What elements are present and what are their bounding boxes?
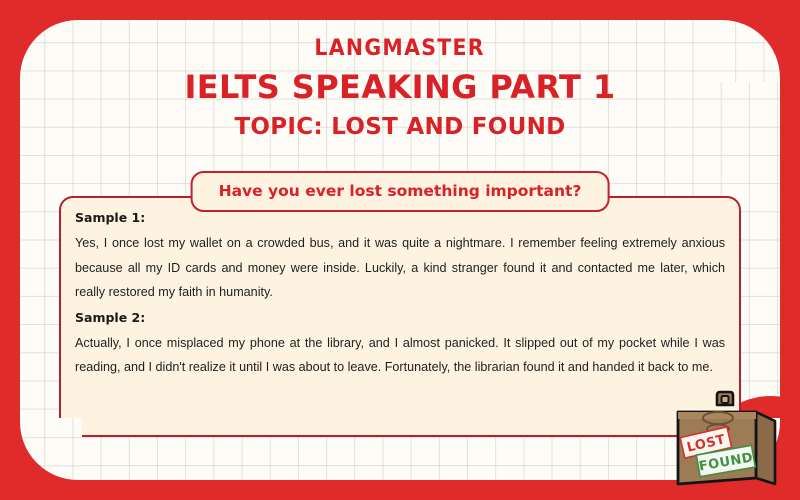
brand-logo: LANGMASTER [0, 36, 800, 61]
question-badge: Have you ever lost something important? [191, 171, 610, 212]
corner-decoration-top-right [718, 20, 780, 82]
sample-1-body: Yes, I once lost my wallet on a crowded … [73, 231, 727, 305]
suitcase-icon: LOST FOUND [668, 388, 786, 492]
brand-name: LANGMASTER [315, 36, 485, 61]
answers-card: Sample 1: Yes, I once lost my wallet on … [59, 196, 741, 437]
sample-1-label: Sample 1: [73, 210, 727, 225]
sample-2-label: Sample 2: [73, 310, 727, 325]
page-title: IELTS SPEAKING PART 1 [0, 68, 800, 106]
page-subtitle-topic: TOPIC: LOST AND FOUND [0, 114, 800, 140]
slide-canvas: LANGMASTER IELTS SPEAKING PART 1 TOPIC: … [0, 0, 800, 500]
corner-decoration-top-left [20, 20, 82, 82]
corner-decoration-bottom-left [20, 418, 82, 480]
sample-2-body: Actually, I once misplaced my phone at t… [73, 331, 727, 380]
